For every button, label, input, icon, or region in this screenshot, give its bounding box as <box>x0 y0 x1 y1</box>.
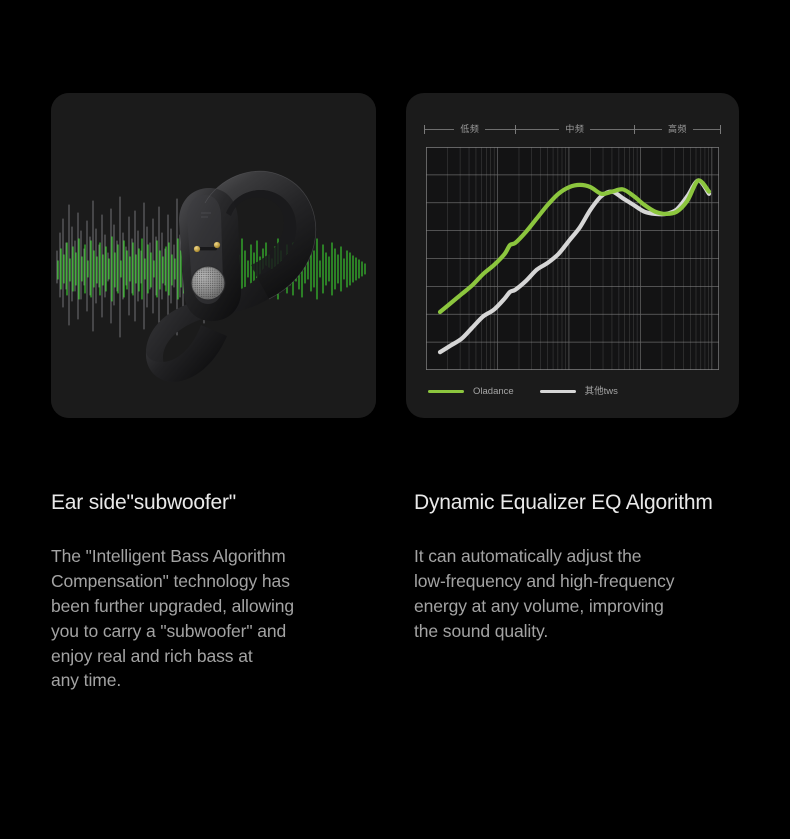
band-rule <box>635 129 662 130</box>
feature-block-subwoofer: Ear side"subwoofer" The "Intelligent Bas… <box>51 490 396 693</box>
band-rule <box>516 129 560 130</box>
band-rule <box>693 129 720 130</box>
band-high: 高频 <box>635 120 720 138</box>
band-rule <box>425 129 454 130</box>
band-low: 低频 <box>425 120 515 138</box>
feature-body-eq: It can automatically adjust the low-freq… <box>414 544 786 643</box>
feature-heading-eq: Dynamic Equalizer EQ Algorithm <box>414 490 786 515</box>
legend-item-other-tws: 其他tws <box>540 387 618 397</box>
chart-legend: Oladance 其他tws <box>428 387 618 397</box>
feature-image-row: 低频 中频 高频 <box>0 93 790 418</box>
gold-contact-pin <box>194 246 200 252</box>
legend-label-other-tws: 其他tws <box>585 387 618 397</box>
legend-item-oladance: Oladance <box>428 387 514 397</box>
band-rule <box>485 129 514 130</box>
legend-swatch-other-tws <box>540 390 576 393</box>
frequency-band-scale: 低频 中频 高频 <box>424 120 721 138</box>
legend-label-oladance: Oladance <box>473 387 514 397</box>
chart-plot-area <box>426 147 719 370</box>
product-feature-page: 低频 中频 高频 <box>0 0 790 839</box>
legend-swatch-oladance <box>428 390 464 393</box>
feature-heading-subwoofer: Ear side"subwoofer" <box>51 490 396 515</box>
band-rule <box>590 129 634 130</box>
earbud-waveform-image <box>51 93 376 418</box>
feature-block-eq: Dynamic Equalizer EQ Algorithm It can au… <box>414 490 786 644</box>
scale-tick <box>720 125 721 134</box>
band-label-low: 低频 <box>454 125 485 134</box>
feature-body-subwoofer: The "Intelligent Bass Algorithm Compensa… <box>51 544 396 693</box>
earbud-waveform-card <box>51 93 376 418</box>
band-mid: 中频 <box>516 120 634 138</box>
band-label-mid: 中频 <box>559 125 590 134</box>
gold-contact-pin <box>214 242 220 248</box>
eq-frequency-response-chart: 低频 中频 高频 <box>406 93 739 418</box>
band-label-high: 高频 <box>662 125 693 134</box>
